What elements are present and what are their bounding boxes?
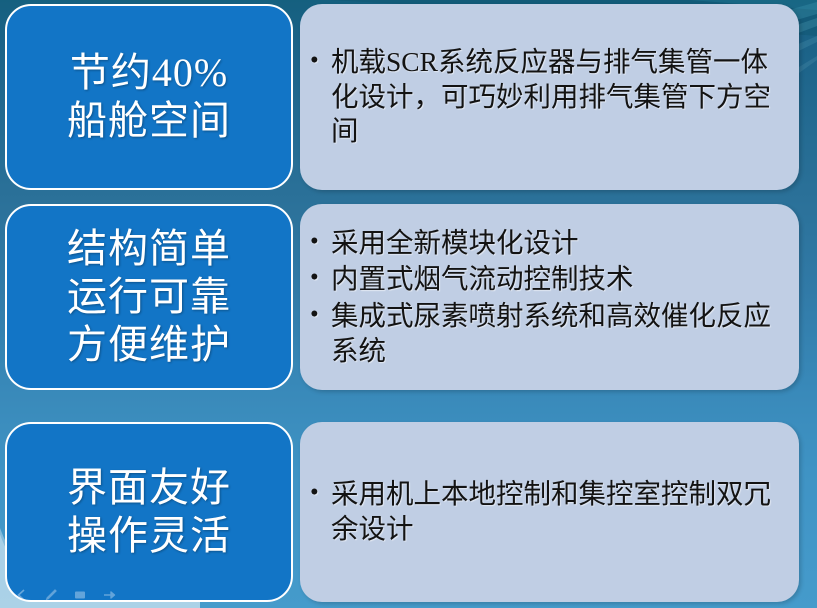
bullet-marker-icon: • [310,477,331,510]
pen-icon[interactable] [43,587,58,602]
feature-body-box[interactable]: • 采用全新模块化设计 • 内置式烟气流动控制技术 • 集成式尿素喷射系统和高效… [300,204,799,390]
list-item: • 采用机上本地控制和集控室控制双冗余设计 [310,477,785,546]
presentation-slide: 节约40% 船舱空间 • 机载SCR系统反应器与排气集管一体化设计，可巧妙利用排… [0,0,817,608]
feature-title-text: 界面友好 操作灵活 [61,464,237,560]
list-item: • 机载SCR系统反应器与排气集管一体化设计，可巧妙利用排气集管下方空间 [310,45,785,149]
feature-title-box[interactable]: 节约40% 船舱空间 [5,4,293,190]
slideshow-controls [14,587,116,602]
feature-row: 界面友好 操作灵活 • 采用机上本地控制和集控室控制双冗余设计 [0,422,817,602]
bullet-marker-icon: • [310,299,331,332]
bullet-text: 采用全新模块化设计 [331,226,785,261]
feature-title-box[interactable]: 界面友好 操作灵活 [5,422,293,602]
bullet-marker-icon: • [310,262,331,295]
bullet-text: 采用机上本地控制和集控室控制双冗余设计 [331,477,785,546]
next-slide-icon[interactable] [101,587,116,602]
bullet-marker-icon: • [310,45,331,78]
slide-menu-icon[interactable] [72,587,87,602]
feature-title-text: 结构简单 运行可靠 方便维护 [61,225,237,369]
list-item: • 集成式尿素喷射系统和高效催化反应系统 [310,299,785,368]
feature-title-box[interactable]: 结构简单 运行可靠 方便维护 [5,204,293,390]
list-item: • 采用全新模块化设计 [310,226,785,261]
feature-row: 节约40% 船舱空间 • 机载SCR系统反应器与排气集管一体化设计，可巧妙利用排… [0,4,817,190]
list-item: • 内置式烟气流动控制技术 [310,262,785,297]
feature-body-box[interactable]: • 采用机上本地控制和集控室控制双冗余设计 [300,422,799,602]
feature-row: 结构简单 运行可靠 方便维护 • 采用全新模块化设计 • 内置式烟气流动控制技术… [0,204,817,390]
previous-slide-icon[interactable] [14,587,29,602]
feature-body-box[interactable]: • 机载SCR系统反应器与排气集管一体化设计，可巧妙利用排气集管下方空间 [300,4,799,190]
bullet-marker-icon: • [310,226,331,259]
bullet-text: 机载SCR系统反应器与排气集管一体化设计，可巧妙利用排气集管下方空间 [331,45,785,149]
bullet-text: 集成式尿素喷射系统和高效催化反应系统 [331,299,785,368]
feature-title-text: 节约40% 船舱空间 [61,49,237,145]
bullet-text: 内置式烟气流动控制技术 [331,262,785,297]
